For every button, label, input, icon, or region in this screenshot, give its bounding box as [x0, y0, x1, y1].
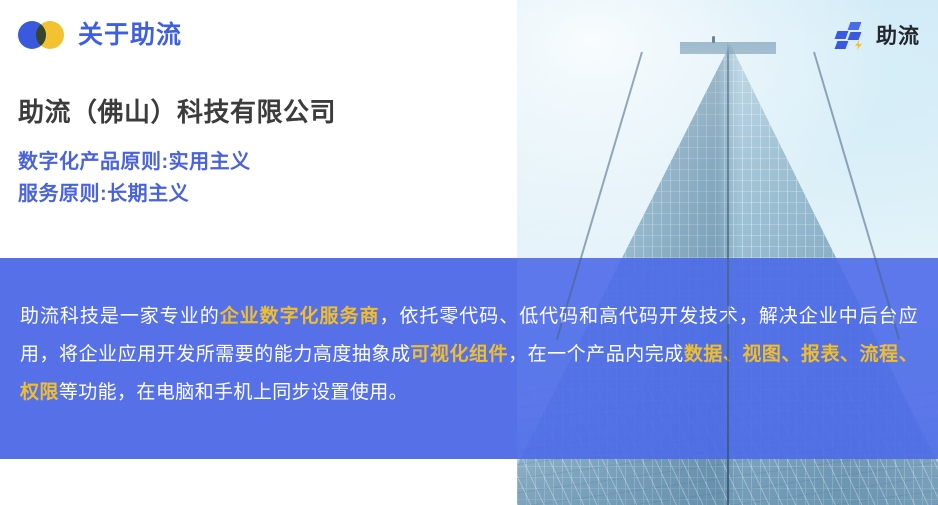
company-name: 助流（佛山）科技有限公司 — [18, 92, 336, 129]
principle-item-product: 数字化产品原则:实用主义 — [18, 146, 251, 178]
tower-crown — [680, 42, 776, 54]
description-highlight: 可视化组件 — [410, 344, 508, 365]
page-title: 关于助流 — [78, 23, 182, 48]
section-header: 关于助流 — [18, 21, 182, 49]
venn-circles-logo-icon — [18, 21, 64, 49]
principle-item-service: 服务原则:长期主义 — [18, 178, 251, 210]
tower-vee-crease — [635, 52, 821, 352]
about-zhuliu-slide: 关于助流 助流（佛山）科技有限公司 数字化产品原则:实用主义 服务原则:长期主义… — [0, 0, 938, 505]
tower-antenna — [712, 36, 715, 43]
brand-name: 助流 — [876, 26, 920, 47]
zhuliu-bolt-logo-icon — [835, 20, 867, 52]
brand-lockup: 助流 — [835, 20, 920, 52]
left-footer-panel — [0, 459, 517, 505]
description-text: 等功能，在电脑和手机上同步设置使用。 — [59, 382, 408, 403]
description-highlight: 企业数字化服务商 — [220, 306, 380, 327]
description-text: 助流科技是一家专业的 — [20, 306, 220, 327]
principles-list: 数字化产品原则:实用主义 服务原则:长期主义 — [18, 146, 251, 210]
